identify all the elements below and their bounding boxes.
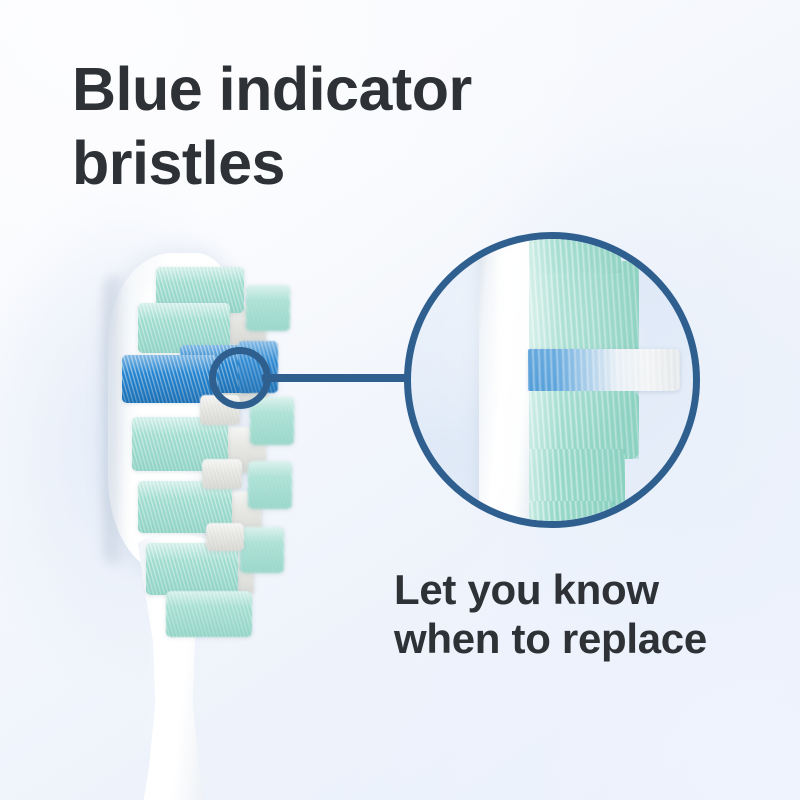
bristle-tuft [166,591,252,637]
bristle-tuft [240,527,284,573]
headline: Blue indicator bristles [72,52,632,200]
product-feature-image: Blue indicator bristles [0,0,800,800]
bristle-tuft [202,459,242,489]
callout-leader-line [262,374,410,382]
magnified-indicator-band [528,349,680,391]
magnified-bristle-band [529,501,615,521]
magnifier-contents [411,239,693,521]
toothbrush-head-illustration [60,245,380,800]
bristle-tuft [248,461,292,509]
magnified-bristle-band [529,261,639,355]
magnified-side-view [404,232,700,528]
bristle-tuft [206,523,244,551]
bristle-tuft [246,285,290,331]
brush-head-shadow [104,275,128,565]
magnified-plastic-highlight [497,249,511,519]
caption: Let you know when to replace [394,565,774,663]
bristle-tuft [250,397,294,445]
magnified-bristle-band [529,239,621,273]
